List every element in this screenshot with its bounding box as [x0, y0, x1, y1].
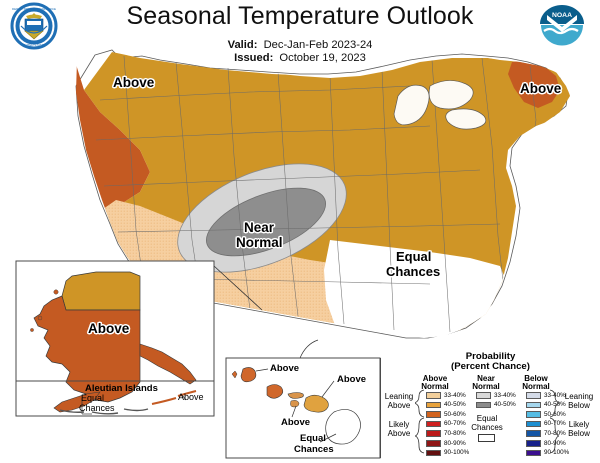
- legend-below-normal-swatch-90-100: [526, 450, 541, 457]
- legend-below-normal-swatch-70-80: [526, 430, 541, 437]
- legend-leaning-above-l1: Leaning: [381, 392, 417, 401]
- legend-leaning-below-l2: Below: [559, 401, 599, 410]
- legend-leaning-below-l1: Leaning: [559, 392, 599, 401]
- legend-near-normal-swatch-40-50: [476, 402, 491, 409]
- legend-equal-chances-l1: Equal: [467, 414, 507, 423]
- hawaii-label-equal: Equal: [300, 434, 326, 445]
- legend-above-normal-swatch-80-90: [426, 440, 441, 447]
- legend-brace-left: [415, 388, 425, 454]
- legend-equal-chances-swatch: [478, 434, 495, 442]
- hawaii-label-chances: Chances: [294, 445, 334, 456]
- hawaii-label-above-oahu: Above: [281, 418, 310, 429]
- outlook-map-page: DEPARTMENT OF COMMERCE UNITED STATES NOA…: [0, 0, 600, 463]
- legend-likely-below-l1: Likely: [559, 420, 599, 429]
- legend-above-normal-label-70-80: 70-80%: [444, 430, 466, 437]
- hawaii-label-above-maui: Above: [337, 375, 366, 386]
- legend-leaning-above-l2: Above: [381, 401, 417, 410]
- legend-likely-above-l2: Above: [381, 429, 417, 438]
- legend-above-normal-label-33-40: 33-40%: [444, 392, 466, 399]
- legend-above-normal-swatch-60-70: [426, 421, 441, 428]
- legend-equal-chances-l2: Chances: [467, 423, 507, 432]
- legend-below-normal-swatch-80-90: [526, 440, 541, 447]
- legend-above-normal-label-90-100: 90-100%: [444, 449, 469, 456]
- legend-below-normal-swatch-40-50: [526, 402, 541, 409]
- legend-col-near-normal-l2: Normal: [466, 383, 506, 392]
- legend-divider: [380, 358, 381, 458]
- legend-below-normal-swatch-60-70: [526, 421, 541, 428]
- legend-above-normal-swatch-70-80: [426, 430, 441, 437]
- legend-above-normal-label-60-70: 60-70%: [444, 420, 466, 427]
- legend-above-normal-label-50-60: 50-60%: [444, 411, 466, 418]
- legend-above-normal-swatch-40-50: [426, 402, 441, 409]
- legend-above-normal-swatch-50-60: [426, 411, 441, 418]
- legend-above-normal-label-40-50: 40-50%: [444, 401, 466, 408]
- legend-brace-right: [549, 388, 559, 454]
- legend-below-normal-swatch-33-40: [526, 392, 541, 399]
- legend-likely-above-l1: Likely: [381, 420, 417, 429]
- legend-near-normal-label-40-50: 40-50%: [494, 401, 516, 408]
- legend-near-normal-swatch-33-40: [476, 392, 491, 399]
- legend-title-line2: (Percent Chance): [383, 362, 598, 373]
- legend-likely-below-l2: Below: [559, 429, 599, 438]
- legend-below-normal-swatch-50-60: [526, 411, 541, 418]
- legend-above-normal-swatch-90-100: [426, 450, 441, 457]
- legend-near-normal-label-33-40: 33-40%: [494, 392, 516, 399]
- legend-above-normal-swatch-33-40: [426, 392, 441, 399]
- probability-legend: Probability (Percent Chance) Above Norma…: [383, 352, 598, 460]
- hawaii-label-above-kauai: Above: [270, 364, 299, 375]
- legend-above-normal-label-80-90: 80-90%: [444, 440, 466, 447]
